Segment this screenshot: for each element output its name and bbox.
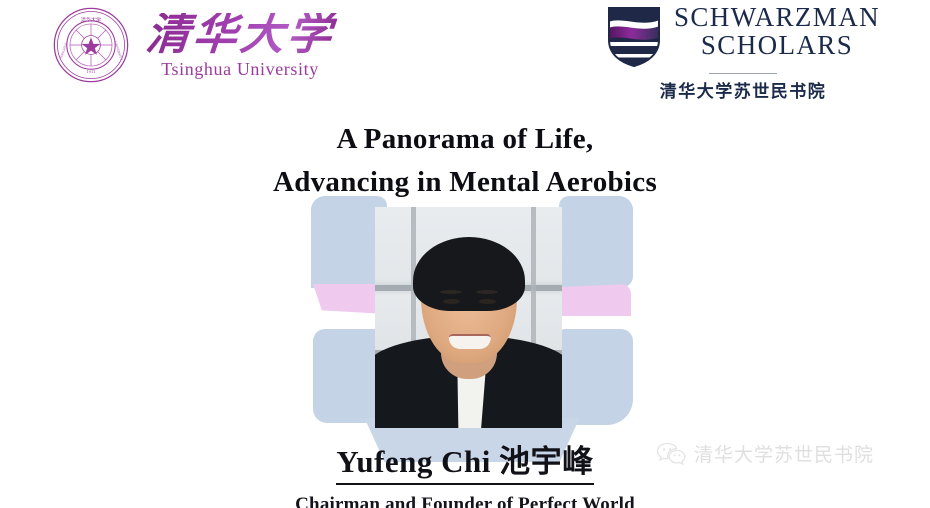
photo-eye-left (443, 299, 460, 304)
decor-shape-right-bottom (559, 329, 633, 425)
wechat-watermark-text: 清华大学苏世民书院 (694, 440, 874, 467)
svg-text:清华大学: 清华大学 (81, 17, 101, 24)
photo-eyebrow-left (440, 290, 462, 294)
schwarzman-shield-icon (606, 6, 662, 68)
tsinghua-english-name: Tsinghua University (161, 60, 319, 78)
tsinghua-chinese-name: 清华大学 (142, 13, 338, 57)
speaker-role: Chairman and Founder of Perfect World (0, 494, 930, 508)
title-line-1: A Panorama of Life, (0, 118, 930, 161)
schwarzman-line2: SCHOLARS (701, 32, 853, 60)
schwarzman-line1: SCHWARZMAN (674, 4, 880, 32)
decor-shape-right-pink (555, 284, 631, 316)
photo-eyebrow-right (476, 290, 498, 294)
schwarzman-wordmark: SCHWARZMAN SCHOLARS (674, 4, 880, 59)
slide-title: A Panorama of Life, Advancing in Mental … (0, 118, 930, 204)
tsinghua-seal-icon: 清华大学 1911 TSINGHUA UNIVERSITY (52, 6, 130, 84)
photo-eye-right (479, 299, 496, 304)
svg-text:UNIVERSITY: UNIVERSITY (114, 41, 124, 61)
wechat-watermark: 清华大学苏世民书院 (656, 440, 874, 467)
schwarzman-logo: SCHWARZMAN SCHOLARS 清华大学苏世民书院 (598, 4, 888, 102)
schwarzman-divider (709, 73, 777, 74)
speaker-name: Yufeng Chi 池宇峰 (336, 436, 593, 485)
tsinghua-logo: 清华大学 1911 TSINGHUA UNIVERSITY 清华大学 Tsing… (52, 6, 336, 84)
schwarzman-logo-row: SCHWARZMAN SCHOLARS (606, 4, 880, 68)
svg-text:1911: 1911 (86, 70, 95, 74)
presentation-slide: 清华大学 1911 TSINGHUA UNIVERSITY 清华大学 Tsing… (0, 0, 930, 508)
photo-mouth (448, 334, 490, 349)
svg-text:TSINGHUA: TSINGHUA (59, 42, 68, 60)
decor-shape-right-top (559, 196, 633, 288)
speaker-photo (375, 207, 562, 428)
schwarzman-chinese-name: 清华大学苏世民书院 (660, 77, 827, 102)
wechat-icon (656, 441, 686, 467)
tsinghua-wordmark: 清华大学 Tsinghua University (144, 13, 336, 78)
portrait-stage (307, 196, 637, 444)
slide-header: 清华大学 1911 TSINGHUA UNIVERSITY 清华大学 Tsing… (0, 0, 930, 108)
